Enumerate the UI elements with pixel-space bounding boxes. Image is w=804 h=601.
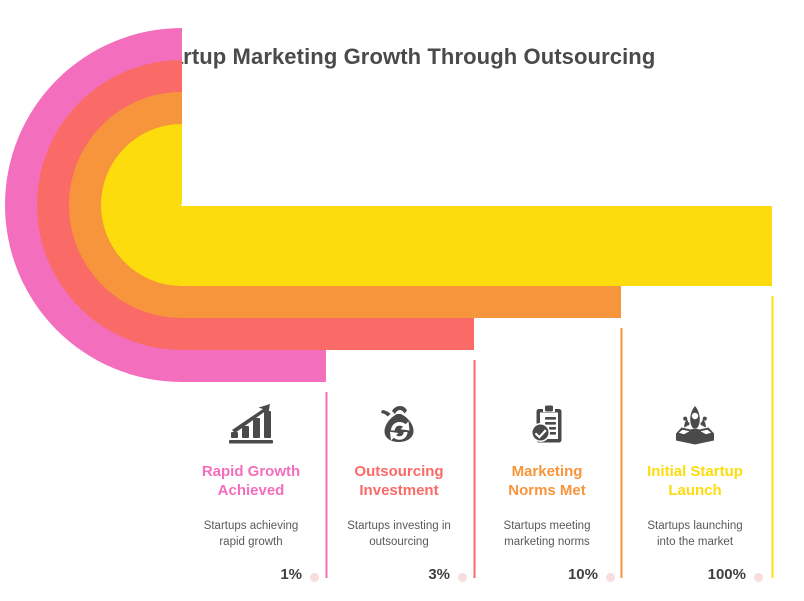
heading-line-1: Rapid Growth	[202, 463, 300, 480]
value-dot	[458, 573, 467, 582]
column-heading: Initial Startup Launch	[620, 462, 770, 500]
column-marketing-norms-met[interactable]: Marketing Norms Met Startups meeting mar…	[472, 396, 622, 601]
value-dot	[310, 573, 319, 582]
funnel-arc-red	[37, 60, 474, 350]
description-line-1: Startups achieving	[204, 520, 299, 532]
column-value: 1%	[176, 566, 302, 583]
infographic-canvas: Startup Marketing Growth Through Outsour…	[0, 0, 804, 601]
heading-line-1: Marketing	[512, 463, 583, 480]
column-heading: Rapid Growth Achieved	[176, 462, 326, 500]
column-description: Startups launching into the market	[620, 518, 770, 550]
growth-chart-arrow-icon	[176, 400, 326, 448]
column-value: 100%	[620, 566, 746, 583]
value-dot	[606, 573, 615, 582]
value-dot	[754, 573, 763, 582]
description-line-1: Startups investing in	[347, 520, 451, 532]
column-initial-startup-launch[interactable]: Initial Startup Launch Startups launchin…	[620, 396, 770, 601]
description-line-2: marketing norms	[504, 536, 590, 548]
column-heading: Outsourcing Investment	[324, 462, 474, 500]
money-bag-exchange-icon	[324, 400, 474, 448]
description-line-2: rapid growth	[219, 536, 282, 548]
column-description: Startups meeting marketing norms	[472, 518, 622, 550]
funnel-arc-orange	[69, 92, 621, 318]
column-value: 3%	[324, 566, 450, 583]
rocket-launch-box-icon	[620, 400, 770, 448]
column-outsourcing-investment[interactable]: Outsourcing Investment Startups investin…	[324, 396, 474, 601]
clipboard-check-icon	[472, 400, 622, 448]
page-title: Startup Marketing Growth Through Outsour…	[0, 44, 804, 70]
heading-line-1: Outsourcing	[354, 463, 443, 480]
description-line-1: Startups launching	[647, 520, 742, 532]
funnel-arc-yellow	[101, 124, 772, 286]
description-line-2: into the market	[657, 536, 733, 548]
column-group: Rapid Growth Achieved Startups achieving…	[0, 396, 804, 601]
heading-line-1: Initial Startup	[647, 463, 743, 480]
column-heading: Marketing Norms Met	[472, 462, 622, 500]
column-rapid-growth-achieved[interactable]: Rapid Growth Achieved Startups achieving…	[176, 396, 326, 601]
description-line-1: Startups meeting	[504, 520, 591, 532]
column-value: 10%	[472, 566, 598, 583]
heading-line-2: Launch	[668, 482, 721, 499]
heading-line-2: Norms Met	[508, 482, 586, 499]
funnel-arc-pink	[5, 28, 326, 382]
column-description: Startups achieving rapid growth	[176, 518, 326, 550]
column-description: Startups investing in outsourcing	[324, 518, 474, 550]
description-line-2: outsourcing	[369, 536, 428, 548]
heading-line-2: Investment	[359, 482, 438, 499]
heading-line-2: Achieved	[218, 482, 285, 499]
